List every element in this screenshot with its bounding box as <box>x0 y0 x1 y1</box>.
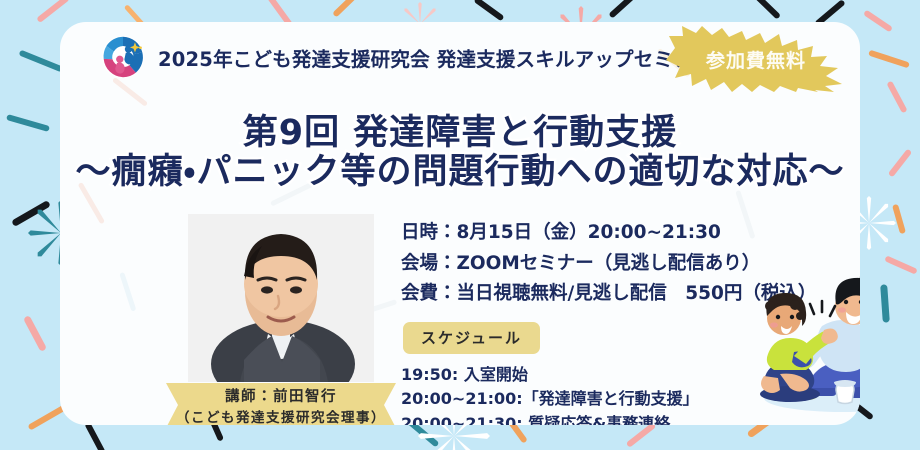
confetti-streak <box>23 315 47 352</box>
header-row: 2025年こども発達支援研究会 発達支援スキルアップセミナー <box>100 34 713 80</box>
schedule-item-1: 19:50: 入室開始 <box>401 363 699 387</box>
confetti-streak <box>751 0 781 20</box>
speaker-role: （こども発達支援研究会理事） <box>176 406 386 425</box>
title-block: 第9回 発達障害と行動支援 〜癇癪・パニック等の問題行動への適切な対応〜 <box>60 114 860 192</box>
page-title-line-1: 第9回 発達障害と行動支援 <box>60 114 860 153</box>
speaker-name: 講師：前田智行 <box>225 385 337 406</box>
seminar-poster: 2025年こども発達支援研究会 発達支援スキルアップセミナー 第9回 発達障害と… <box>0 0 920 450</box>
free-admission-badge: 参加費無料 <box>666 26 846 92</box>
confetti-streak <box>888 149 912 178</box>
confetti-streak <box>84 422 105 450</box>
page-title-line-2: 〜癇癪・パニック等の問題行動への適切な対応〜 <box>60 153 860 192</box>
portrait-illustration <box>188 214 374 382</box>
confetti-streak <box>473 0 504 21</box>
confetti-streak <box>36 0 70 23</box>
confetti-streak <box>626 422 656 448</box>
kohaken-logo-icon <box>100 34 146 80</box>
speaker-ribbon-text: 講師：前田智行 （こども発達支援研究会理事） <box>166 383 396 425</box>
header-title: 2025年こども発達支援研究会 発達支援スキルアップセミナー <box>158 43 713 72</box>
confetti-streak <box>608 0 637 19</box>
confetti-streak <box>880 284 890 322</box>
confetti-streak <box>332 0 358 18</box>
info-line-datetime: 日時：8月15日（金）20:00~21:30 <box>401 218 816 249</box>
confetti-streak <box>868 50 910 69</box>
schedule-list: 19:50: 入室開始 20:00~21:00:「発達障害と行動支援」 20:0… <box>401 363 699 425</box>
schedule-pill-label: スケジュール <box>403 322 540 354</box>
free-admission-label: 参加費無料 <box>666 26 846 92</box>
confetti-streak <box>19 50 64 73</box>
confetti-streak <box>6 114 50 132</box>
schedule-item-2: 20:00~21:00:「発達障害と行動支援」 <box>401 387 699 411</box>
confetti-streak <box>863 10 893 33</box>
confetti-streak <box>884 255 918 274</box>
confetti-streak <box>886 81 907 114</box>
contact-line: お問い合わせ:k-desk@kohaken.net HP:https://koh… <box>594 422 860 425</box>
speaker-ribbon: 講師：前田智行 （こども発達支援研究会理事） <box>166 383 396 425</box>
adult-child-highfive-illustration <box>750 270 860 415</box>
speaker-portrait-photo <box>188 214 374 382</box>
